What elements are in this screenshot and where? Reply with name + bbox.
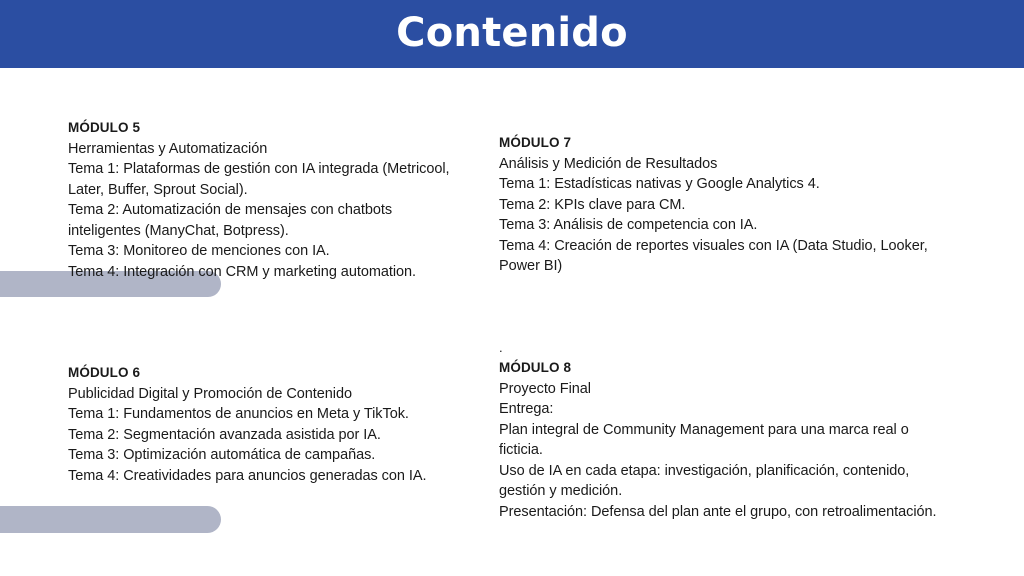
module-block-8: MÓDULO 8 Proyecto Final Entrega: Plan in… [499, 358, 955, 522]
module-6-topic-1: Tema 1: Fundamentos de anuncios en Meta … [68, 404, 454, 425]
module-5-topic-3: Tema 3: Monitoreo de menciones con IA. [68, 241, 454, 262]
module-7-heading: MÓDULO 7 [499, 133, 955, 154]
module-6-subtitle: Publicidad Digital y Promoción de Conten… [68, 384, 454, 405]
module-6-topic-2: Tema 2: Segmentación avanzada asistida p… [68, 425, 454, 446]
module-6-heading: MÓDULO 6 [68, 363, 454, 384]
module-8-delivery-label: Entrega: [499, 399, 955, 420]
module-8-delivery-3: Presentación: Defensa del plan ante el g… [499, 502, 955, 523]
left-column-spacer [68, 282, 454, 363]
module-7-topic-3: Tema 3: Análisis de competencia con IA. [499, 215, 955, 236]
module-6-topic-3: Tema 3: Optimización automática de campa… [68, 445, 454, 466]
module-7-subtitle: Análisis y Medición de Resultados [499, 154, 955, 175]
left-accent-bar-lower [0, 506, 221, 533]
header-banner: Contenido [0, 0, 1024, 68]
module-7-topic-1: Tema 1: Estadísticas nativas y Google An… [499, 174, 955, 195]
slide-contenido: Contenido MÓDULO 5 Herramientas y Automa… [0, 0, 1024, 576]
right-column-spacer [499, 277, 955, 338]
module-5-topic-2: Tema 2: Automatización de mensajes con c… [68, 200, 454, 241]
module-5-topic-4: Tema 4: Integración con CRM y marketing … [68, 262, 454, 283]
module-8-delivery-1: Plan integral de Community Management pa… [499, 420, 955, 461]
module-5-subtitle: Herramientas y Automatización [68, 139, 454, 160]
page-title: Contenido [396, 13, 628, 55]
module-block-5: MÓDULO 5 Herramientas y Automatización T… [68, 118, 454, 282]
module-8-subtitle: Proyecto Final [499, 379, 955, 400]
left-column: MÓDULO 5 Herramientas y Automatización T… [68, 118, 454, 486]
module-block-6: MÓDULO 6 Publicidad Digital y Promoción … [68, 363, 454, 486]
module-block-7: MÓDULO 7 Análisis y Medición de Resultad… [499, 133, 955, 277]
module-8-heading: MÓDULO 8 [499, 358, 955, 379]
module-6-topic-4: Tema 4: Creatividades para anuncios gene… [68, 466, 454, 487]
module-5-topic-1: Tema 1: Plataformas de gestión con IA in… [68, 159, 454, 200]
module-5-heading: MÓDULO 5 [68, 118, 454, 139]
module-7-topic-4: Tema 4: Creación de reportes visuales co… [499, 236, 955, 277]
module-7-topic-2: Tema 2: KPIs clave para CM. [499, 195, 955, 216]
separator-dot: . [499, 338, 955, 359]
right-column: MÓDULO 7 Análisis y Medición de Resultad… [499, 133, 955, 522]
module-8-delivery-2: Uso de IA en cada etapa: investigación, … [499, 461, 955, 502]
